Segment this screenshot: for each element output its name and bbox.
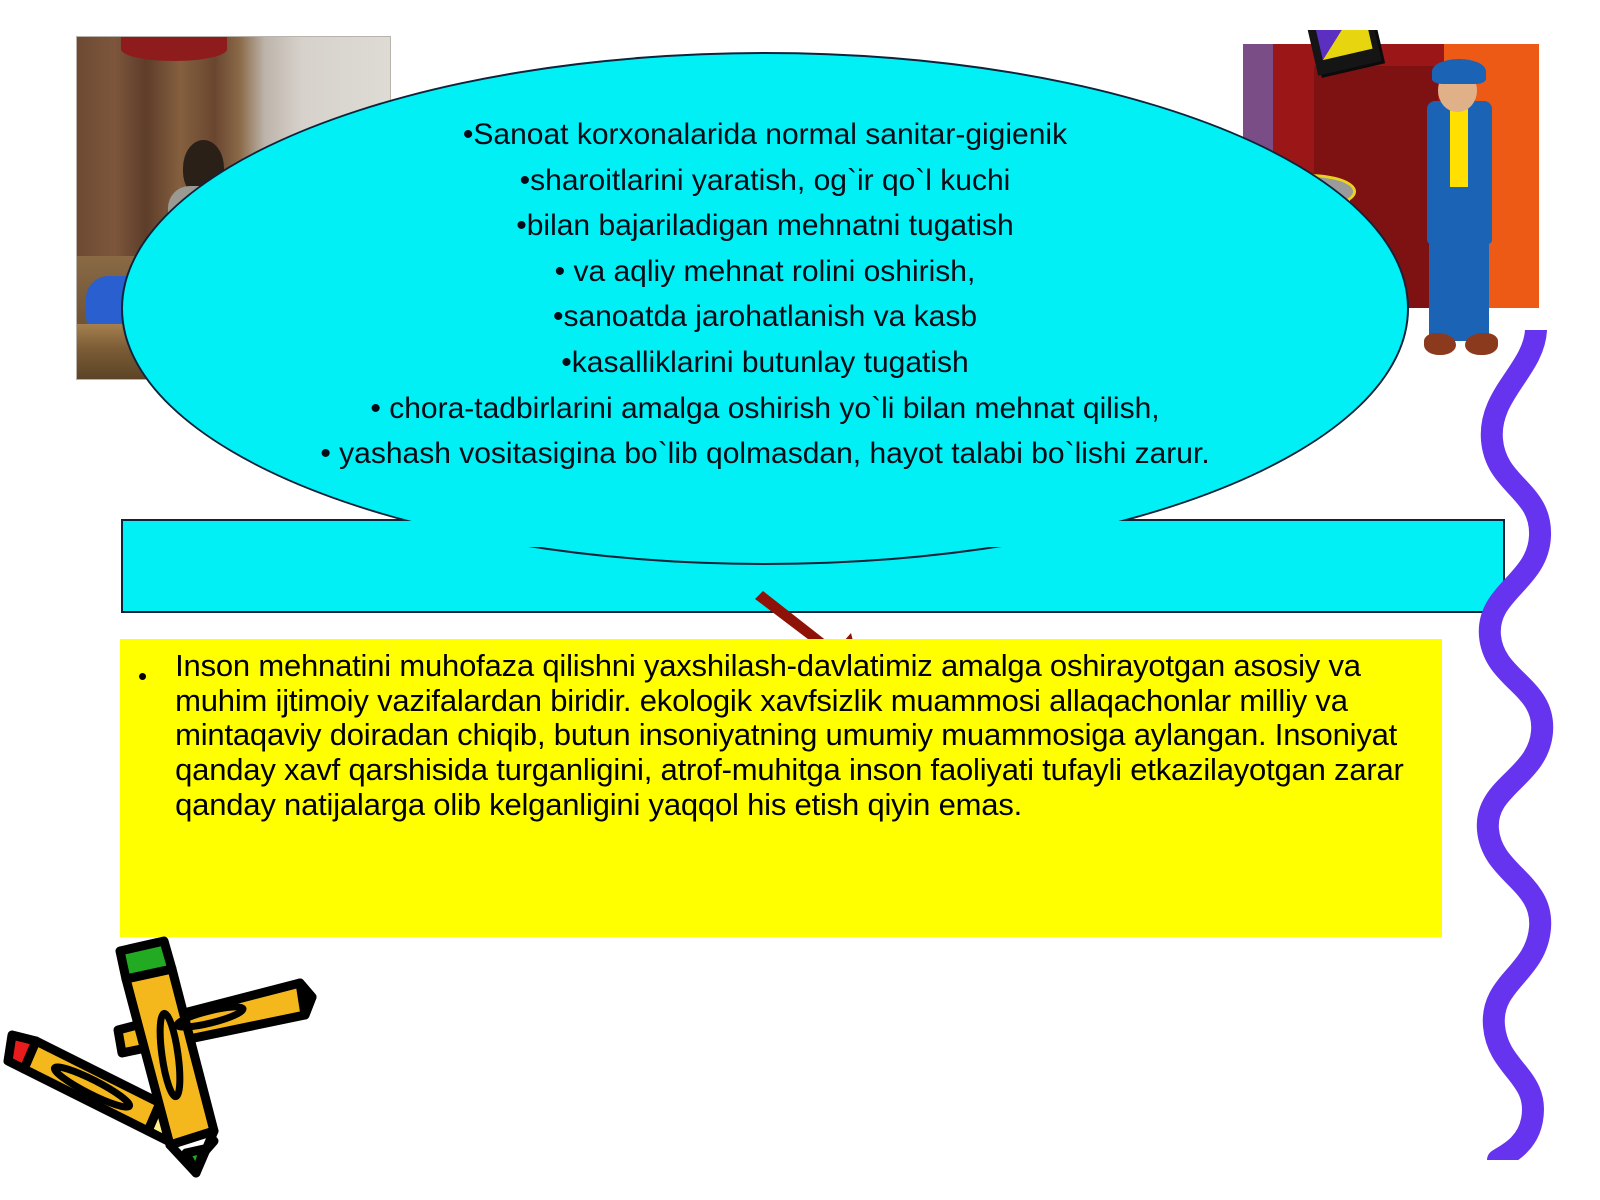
callout-line: •bilan bajariladigan mehnatni tugatish (150, 203, 1380, 249)
poster-worker-legs (1429, 233, 1488, 340)
callout-line: •sharoitlarini yaratish, og`ir qo`l kuch… (150, 158, 1380, 204)
callout-line: •Sanoat korxonalarida normal sanitar-gig… (150, 112, 1380, 158)
poster-badge-inner (1315, 30, 1372, 61)
poster-worker-scarf (1450, 109, 1468, 188)
callout-line: •kasalliklarini butunlay tugatish (150, 340, 1380, 386)
callout-seam-mask (124, 521, 1406, 547)
callout-text-block: •Sanoat korxonalarida normal sanitar-gig… (150, 112, 1380, 477)
yellow-content-box: • Inson mehnatini muhofaza qilishni yaxs… (120, 639, 1442, 937)
photo-curtain (121, 37, 227, 61)
slide-canvas: www.inv@.suh.ru Ilovastargan tas va mehr… (0, 0, 1600, 1200)
yellow-paragraph: Inson mehnatini muhofaza qilishni yaxshi… (175, 649, 1428, 823)
poster-worker-cap (1432, 59, 1485, 84)
callout-line: •sanoatda jarohatlanish va kasb (150, 294, 1380, 340)
callout-line: • yashash vositasigina bo`lib qolmasdan,… (150, 431, 1380, 477)
callout-line: • va aqliy mehnat rolini oshirish, (150, 249, 1380, 295)
poster-worker-shoe-left (1424, 333, 1457, 354)
yellow-box-inner: • Inson mehnatini muhofaza qilishni yaxs… (138, 649, 1428, 823)
yellow-bullet-marker: • (138, 649, 147, 823)
crossed-pencils-icon (0, 935, 340, 1180)
callout-line: • chora-tadbirlarini amalga oshirish yo`… (150, 386, 1380, 432)
purple-zigzag-line (1470, 330, 1600, 1160)
